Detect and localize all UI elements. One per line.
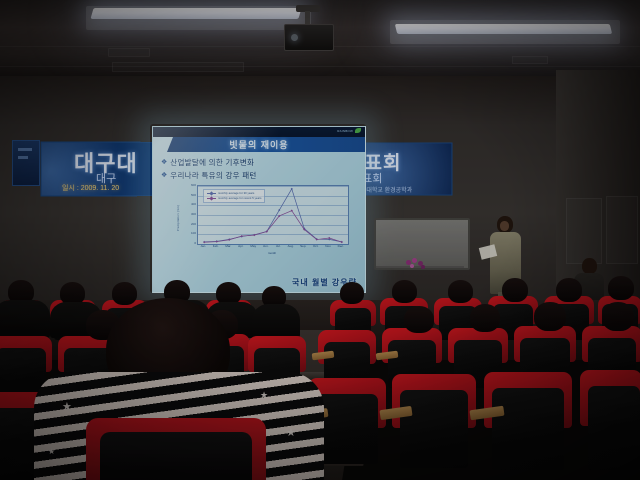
wall-sign-bar	[18, 156, 28, 159]
chart-data-point	[341, 241, 343, 243]
chart-x-tick-label: Jun.	[263, 244, 269, 248]
projector-pole	[305, 11, 310, 24]
chart-x-tick-label: Dec.	[338, 244, 344, 248]
star-icon: ★	[62, 402, 72, 413]
seat[interactable]	[580, 370, 640, 470]
attendee-head	[582, 258, 597, 274]
leaf-icon	[355, 128, 361, 133]
audience-head	[448, 280, 473, 303]
chart-x-tick-label: May	[250, 244, 256, 248]
chart-x-tick-label: Feb.	[213, 244, 219, 248]
chart-y-ticks: 0100200300400500600	[183, 185, 197, 243]
chart-series-svg	[198, 186, 348, 244]
ceiling-vent	[108, 48, 150, 57]
chart-y-axis-label: Precipitation (mm)	[174, 189, 183, 247]
foreground-attendee: ★ ★ ★ ★ ★	[28, 300, 328, 480]
slide-title: 빗물의 재이용	[153, 137, 365, 152]
chart-x-tick-label: Nov.	[325, 244, 331, 248]
audience-head	[534, 302, 566, 331]
chart-x-tick-label: Mar.	[225, 244, 231, 248]
flower-arrangement	[404, 258, 430, 272]
wall-panel-right	[566, 198, 602, 264]
projected-slide: RAINBOW 빗물의 재이용 ❖ 산업발달에 의한 기후변화 ❖ 우리나라 특…	[152, 126, 366, 293]
chart-x-axis-label: month	[197, 251, 347, 255]
chart-y-tick-label: 100	[191, 231, 196, 235]
chart-x-tick-label: Jul.	[276, 244, 281, 248]
audience-head	[502, 278, 528, 302]
projector-lens-icon	[291, 34, 298, 41]
chart-y-tick-label: 400	[191, 202, 196, 206]
slide-top-bar	[153, 127, 365, 137]
rainfall-line-chart: Precipitation (mm) 0100200300400500600 m…	[175, 185, 351, 260]
chart-x-tick-label: Oct.	[313, 244, 319, 248]
chart-series-line	[204, 189, 342, 242]
banner-date: 일시 : 2009. 11. 20	[62, 183, 119, 193]
chart-x-tick-label: Sep.	[300, 244, 306, 248]
audience-head	[392, 280, 417, 303]
chart-y-tick-label: 600	[191, 183, 196, 187]
list-item: ❖ 산업발달에 의한 기후변화	[161, 158, 361, 168]
ceiling-vent	[112, 62, 244, 72]
chart-plot-area: monthly average for 30 years monthly ave…	[197, 185, 349, 245]
presenter-face	[500, 221, 509, 231]
wall-sign-left	[12, 140, 40, 186]
star-icon: ★	[48, 446, 55, 457]
audience-head	[608, 276, 634, 300]
chart-y-axis-label-text: Precipitation (mm)	[177, 205, 181, 231]
diamond-bullet-icon: ❖	[161, 158, 167, 168]
fluorescent-light-left	[90, 8, 301, 19]
audience-head	[470, 304, 500, 332]
diamond-bullet-icon: ❖	[161, 171, 167, 181]
audience-head	[602, 302, 634, 331]
star-icon: ★	[286, 428, 296, 439]
wall-panel-right	[606, 196, 638, 264]
chart-x-tick-label: Aug.	[288, 244, 294, 248]
foreground-seat-back[interactable]	[100, 432, 252, 480]
slide-logo: RAINBOW	[337, 128, 361, 133]
chart-x-tick-label: Apr.	[238, 244, 243, 248]
fluorescent-light-right	[395, 24, 612, 34]
chart-data-point	[328, 237, 330, 239]
star-icon: ★	[260, 390, 268, 401]
chart-y-tick-label: 500	[191, 193, 196, 197]
chart-y-tick-label: 0	[194, 241, 196, 245]
list-item: ❖ 우리나라 특유의 강우 패턴	[161, 171, 361, 181]
chart-series-line	[204, 211, 342, 243]
slide-bullet-list: ❖ 산업발달에 의한 기후변화 ❖ 우리나라 특유의 강우 패턴	[161, 158, 361, 184]
chart-y-tick-label: 200	[191, 222, 196, 226]
chart-x-tick-label: Jan.	[200, 244, 206, 248]
audience-head	[340, 282, 364, 304]
wall-sign-bar	[18, 148, 32, 151]
audience-head	[556, 278, 582, 302]
bullet-text: 우리나라 특유의 강우 패턴	[170, 171, 256, 181]
bullet-text: 산업발달에 의한 기후변화	[170, 158, 254, 168]
audience-head	[404, 306, 434, 333]
ceiling-vent	[512, 56, 548, 64]
ceiling-seam	[0, 66, 640, 67]
seat[interactable]	[392, 374, 476, 468]
chart-y-tick-label: 300	[191, 212, 196, 216]
slide-logo-text: RAINBOW	[337, 129, 353, 133]
lecture-hall-photo: 대구대 대구 일시 : 2009. 11. 20 발표회 발표회 : 대구대학교…	[0, 0, 640, 480]
seat[interactable]	[484, 372, 572, 470]
